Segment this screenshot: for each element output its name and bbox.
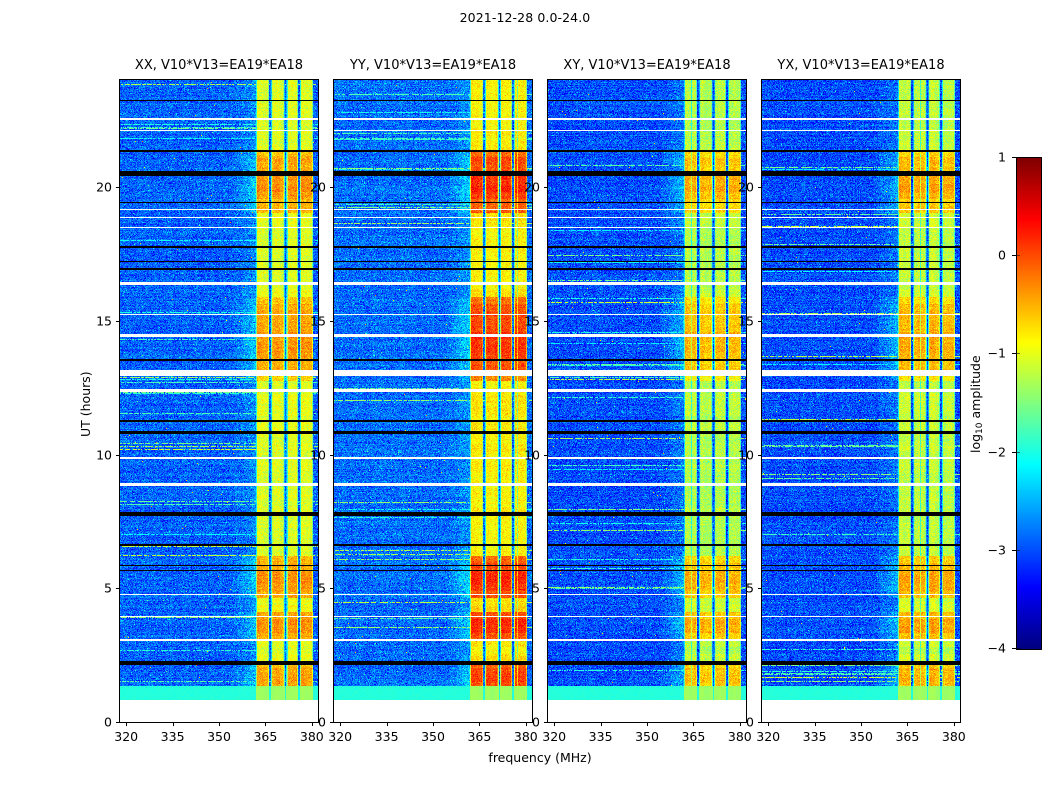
- spectrum-plot-area-xy: [547, 79, 747, 723]
- y-tick-label: 15: [84, 313, 112, 328]
- x-tick-label: 350: [207, 729, 231, 744]
- subplot-yx: YX, V10*V13=EA19*EA183203353503653800510…: [762, 80, 960, 722]
- figure-suptitle: 2021-12-28 0.0-24.0: [0, 10, 1050, 25]
- x-tick-label: 365: [895, 729, 919, 744]
- colorbar-gradient: [1016, 157, 1042, 650]
- x-tick-mark: [768, 722, 769, 726]
- x-tick-mark: [340, 722, 341, 726]
- x-tick-label: 350: [635, 729, 659, 744]
- spectrum-plot-area-yx: [761, 79, 961, 723]
- y-tick-label: 15: [726, 313, 754, 328]
- x-tick-mark: [265, 722, 266, 726]
- y-tick-label: 10: [512, 447, 540, 462]
- y-tick-label: 5: [726, 581, 754, 596]
- subplot-xx: XX, V10*V13=EA19*EA183203353503653800510…: [120, 80, 318, 722]
- x-tick-label: 335: [161, 729, 185, 744]
- x-tick-label: 380: [300, 729, 324, 744]
- x-axis-label: frequency (MHz): [488, 750, 591, 765]
- x-tick-mark: [387, 722, 388, 726]
- y-tick-mark: [758, 588, 762, 589]
- x-tick-mark: [601, 722, 602, 726]
- x-tick-label: 380: [514, 729, 538, 744]
- subplot-yy: YY, V10*V13=EA19*EA183203353503653800510…: [334, 80, 532, 722]
- x-tick-mark: [861, 722, 862, 726]
- dynamic-spectrum-yx: [762, 80, 960, 722]
- y-tick-mark: [758, 722, 762, 723]
- y-axis-label: UT (hours): [78, 371, 93, 437]
- subplot-title-yy: YY, V10*V13=EA19*EA18: [350, 58, 516, 73]
- subplot-title-xy: XY, V10*V13=EA19*EA18: [563, 58, 730, 73]
- colorbar-tick-label: 1: [976, 150, 1006, 165]
- colorbar-tick-inner: [1016, 452, 1020, 453]
- x-tick-mark: [433, 722, 434, 726]
- y-tick-mark: [116, 321, 120, 322]
- spectrum-plot-area-xx: [119, 79, 319, 723]
- y-tick-label: 0: [298, 715, 326, 730]
- y-tick-mark: [758, 321, 762, 322]
- colorbar-label: log10 amplitude: [968, 355, 985, 453]
- subplot-title-yx: YX, V10*V13=EA19*EA18: [777, 58, 944, 73]
- y-tick-label: 5: [512, 581, 540, 596]
- y-tick-mark: [544, 321, 548, 322]
- y-tick-mark: [544, 588, 548, 589]
- x-tick-mark: [554, 722, 555, 726]
- y-tick-mark: [116, 722, 120, 723]
- y-tick-mark: [330, 455, 334, 456]
- x-tick-label: 350: [849, 729, 873, 744]
- x-tick-label: 365: [467, 729, 491, 744]
- x-tick-label: 380: [728, 729, 752, 744]
- y-tick-mark: [758, 187, 762, 188]
- y-tick-label: 15: [298, 313, 326, 328]
- colorbar-label-prefix: log: [968, 433, 983, 452]
- x-tick-mark: [219, 722, 220, 726]
- y-tick-label: 0: [726, 715, 754, 730]
- y-tick-mark: [544, 455, 548, 456]
- y-tick-mark: [330, 722, 334, 723]
- y-tick-label: 20: [298, 180, 326, 195]
- y-tick-mark: [330, 321, 334, 322]
- dynamic-spectrum-xx: [120, 80, 318, 722]
- x-tick-mark: [647, 722, 648, 726]
- y-tick-label: 0: [512, 715, 540, 730]
- y-tick-label: 20: [726, 180, 754, 195]
- y-tick-mark: [116, 455, 120, 456]
- y-tick-label: 10: [84, 447, 112, 462]
- y-tick-mark: [544, 722, 548, 723]
- figure-canvas: 2021-12-28 0.0-24.0 XX, V10*V13=EA19*EA1…: [0, 0, 1050, 800]
- x-tick-label: 335: [589, 729, 613, 744]
- colorbar-label-subscript: 10: [975, 422, 985, 433]
- x-tick-label: 320: [542, 729, 566, 744]
- dynamic-spectrum-yy: [334, 80, 532, 722]
- x-tick-mark: [815, 722, 816, 726]
- y-tick-mark: [116, 187, 120, 188]
- y-tick-label: 0: [84, 715, 112, 730]
- colorbar-label-suffix: amplitude: [968, 355, 983, 422]
- y-tick-label: 5: [298, 581, 326, 596]
- colorbar-tick-inner: [1016, 157, 1020, 158]
- x-tick-label: 320: [756, 729, 780, 744]
- x-tick-mark: [954, 722, 955, 726]
- x-tick-label: 320: [328, 729, 352, 744]
- y-tick-label: 5: [84, 581, 112, 596]
- y-tick-label: 20: [84, 180, 112, 195]
- colorbar-tick-inner: [1016, 255, 1020, 256]
- subplot-xy: XY, V10*V13=EA19*EA183203353503653800510…: [548, 80, 746, 722]
- y-tick-mark: [330, 588, 334, 589]
- colorbar-tick-label: 0: [976, 248, 1006, 263]
- x-tick-label: 335: [375, 729, 399, 744]
- colorbar: 10−1−2−3−4 log10 amplitude: [1016, 157, 1040, 648]
- y-tick-mark: [330, 187, 334, 188]
- x-tick-mark: [173, 722, 174, 726]
- x-tick-label: 365: [253, 729, 277, 744]
- x-tick-mark: [126, 722, 127, 726]
- x-tick-label: 335: [803, 729, 827, 744]
- y-tick-mark: [116, 588, 120, 589]
- x-tick-label: 380: [942, 729, 966, 744]
- x-tick-mark: [693, 722, 694, 726]
- y-tick-mark: [544, 187, 548, 188]
- x-tick-mark: [479, 722, 480, 726]
- spectrum-plot-area-yy: [333, 79, 533, 723]
- colorbar-tick-label: −4: [976, 641, 1006, 656]
- colorbar-tick-label: −3: [976, 542, 1006, 557]
- x-tick-label: 350: [421, 729, 445, 744]
- colorbar-tick-inner: [1016, 353, 1020, 354]
- x-tick-mark: [907, 722, 908, 726]
- dynamic-spectrum-xy: [548, 80, 746, 722]
- x-tick-label: 365: [681, 729, 705, 744]
- x-tick-label: 320: [114, 729, 138, 744]
- colorbar-tick-inner: [1016, 648, 1020, 649]
- y-tick-mark: [758, 455, 762, 456]
- colorbar-tick-inner: [1016, 550, 1020, 551]
- y-tick-label: 20: [512, 180, 540, 195]
- y-tick-label: 10: [726, 447, 754, 462]
- y-tick-label: 15: [512, 313, 540, 328]
- subplot-title-xx: XX, V10*V13=EA19*EA18: [135, 58, 303, 73]
- y-tick-label: 10: [298, 447, 326, 462]
